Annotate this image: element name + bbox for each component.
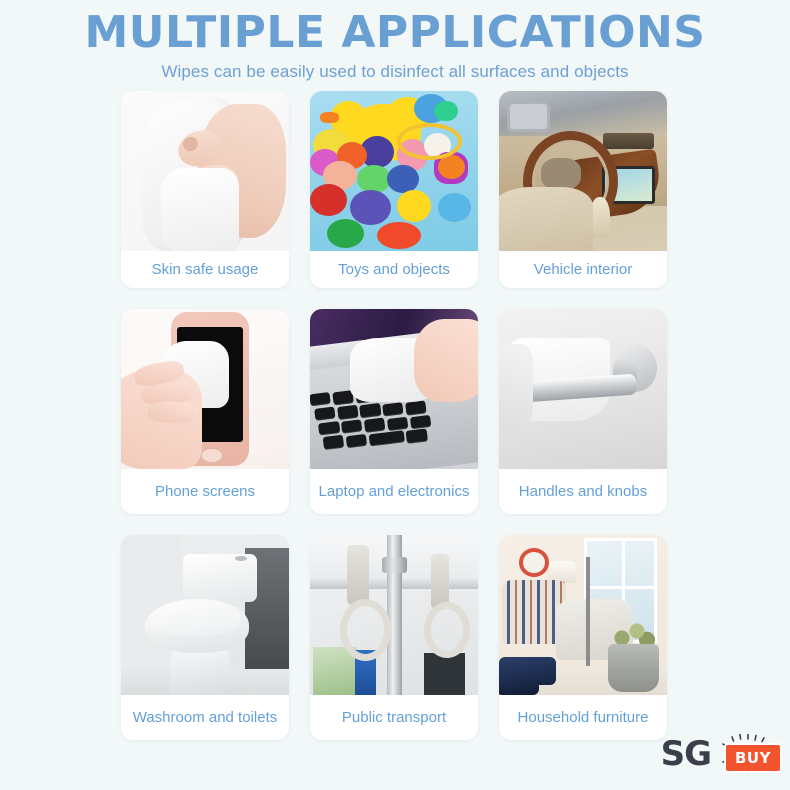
thumb-public-transport — [310, 535, 478, 695]
logo-text-sg: SG — [661, 737, 711, 771]
page-subtitle: Wipes can be easily used to disinfect al… — [0, 62, 790, 82]
thumb-handles-and-knobs — [499, 309, 667, 469]
thumb-phone-screens — [121, 309, 289, 469]
card-label: Skin safe usage — [121, 251, 289, 288]
hand-wiping-laptop-keyboard-icon — [310, 309, 478, 469]
living-room-sofa-armchair-icon — [499, 535, 667, 695]
hand-holding-white-wipe-icon — [121, 91, 289, 251]
card-household-furniture[interactable]: Household furniture — [499, 535, 667, 740]
card-laptop-electronics[interactable]: Laptop and electronics — [310, 309, 478, 514]
colorful-bath-toys-icon — [310, 91, 478, 251]
thumb-toys-and-objects — [310, 91, 478, 251]
card-skin-safe-usage[interactable]: Skin safe usage — [121, 91, 289, 288]
card-washroom-toilets[interactable]: Washroom and toilets — [121, 535, 289, 740]
thumb-washroom-toilets — [121, 535, 289, 695]
card-label: Public transport — [310, 695, 478, 740]
hand-wiping-smartphone-icon — [121, 309, 289, 469]
card-label: Washroom and toilets — [121, 695, 289, 740]
card-label: Laptop and electronics — [310, 469, 478, 514]
applications-grid: Skin safe usage — [121, 91, 669, 740]
logo-badge-buy[interactable]: BUY — [724, 743, 782, 773]
card-label: Phone screens — [121, 469, 289, 514]
card-toys-and-objects[interactable]: Toys and objects — [310, 91, 478, 288]
white-ceramic-toilet-icon — [121, 535, 289, 695]
thumb-vehicle-interior — [499, 91, 667, 251]
page-root: MULTIPLE APPLICATIONS Wipes can be easil… — [0, 0, 790, 790]
car-dashboard-steering-wheel-icon — [499, 91, 667, 251]
card-label: Vehicle interior — [499, 251, 667, 288]
card-phone-screens[interactable]: Phone screens — [121, 309, 289, 514]
card-vehicle-interior[interactable]: Vehicle interior — [499, 91, 667, 288]
thumb-laptop-electronics — [310, 309, 478, 469]
wiping-door-lever-handle-icon — [499, 309, 667, 469]
card-public-transport[interactable]: Public transport — [310, 535, 478, 740]
page-title: MULTIPLE APPLICATIONS — [0, 0, 790, 56]
logo-badge-wrap: BUY — [718, 734, 776, 774]
card-label: Handles and knobs — [499, 469, 667, 514]
card-label: Toys and objects — [310, 251, 478, 288]
thumb-household-furniture — [499, 535, 667, 695]
sgbuy-logo[interactable]: SG BUY — [661, 734, 776, 774]
card-handles-and-knobs[interactable]: Handles and knobs — [499, 309, 667, 514]
bus-pole-grab-handles-icon — [310, 535, 478, 695]
card-label: Household furniture — [499, 695, 667, 740]
thumb-skin-safe-usage — [121, 91, 289, 251]
